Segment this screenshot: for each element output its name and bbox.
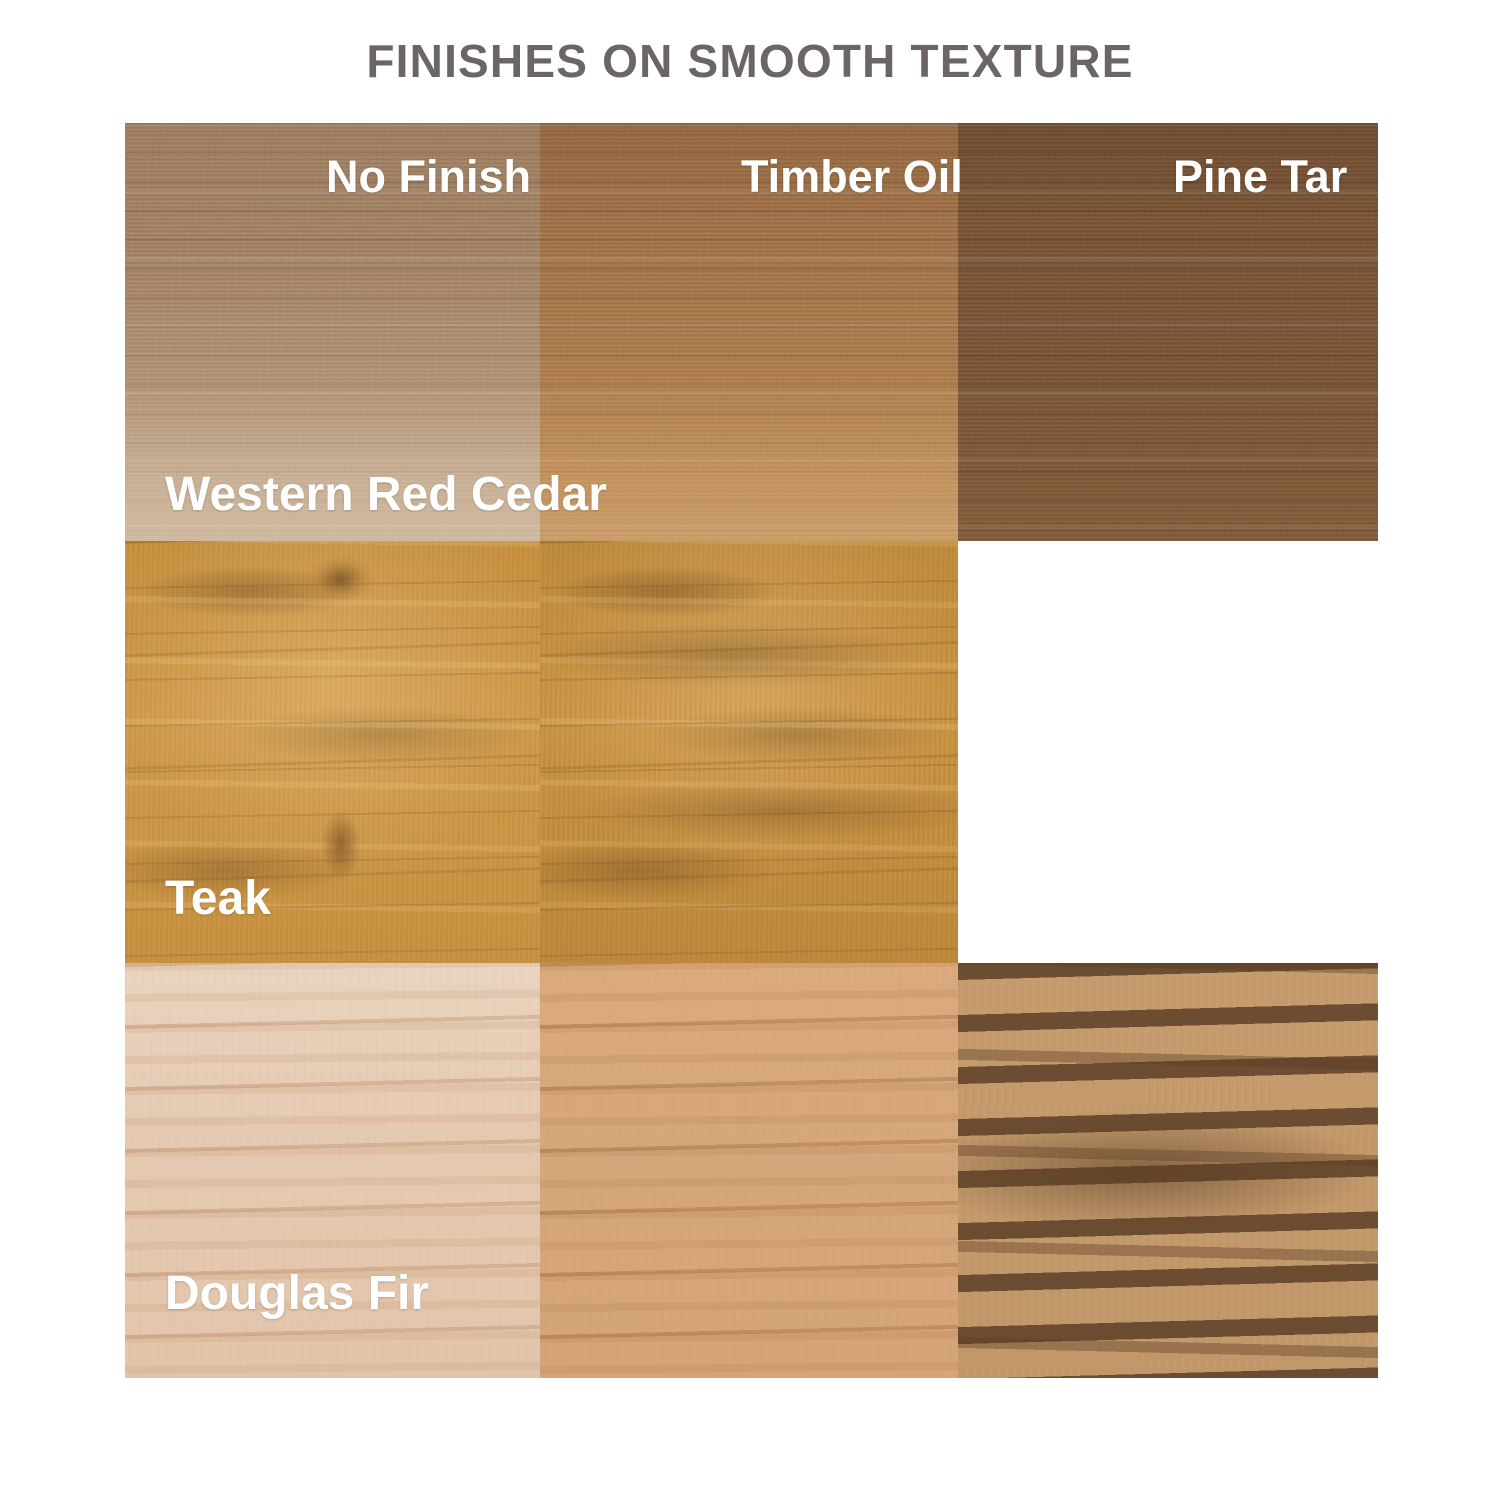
column-label-no-finish: No Finish [326,151,531,203]
swatch-douglas-fir-timber-oil[interactable] [540,963,958,1378]
swatch-teak-timber-oil[interactable] [540,541,958,963]
swatch-douglas-fir-pine-tar[interactable] [958,963,1378,1378]
column-label-timber-oil: Timber Oil [741,151,963,203]
row-label-douglas-fir: Douglas Fir [165,1266,429,1321]
swatch-teak-pine-tar-empty [958,541,1378,963]
row-label-western-red-cedar: Western Red Cedar [165,467,607,522]
row-label-teak: Teak [165,871,271,926]
column-label-pine-tar: Pine Tar [1173,151,1347,203]
finish-swatch-grid: No Finish Timber Oil Pine Tar Western Re… [125,123,1378,1378]
page-title: FINISHES ON SMOOTH TEXTURE [0,34,1500,88]
